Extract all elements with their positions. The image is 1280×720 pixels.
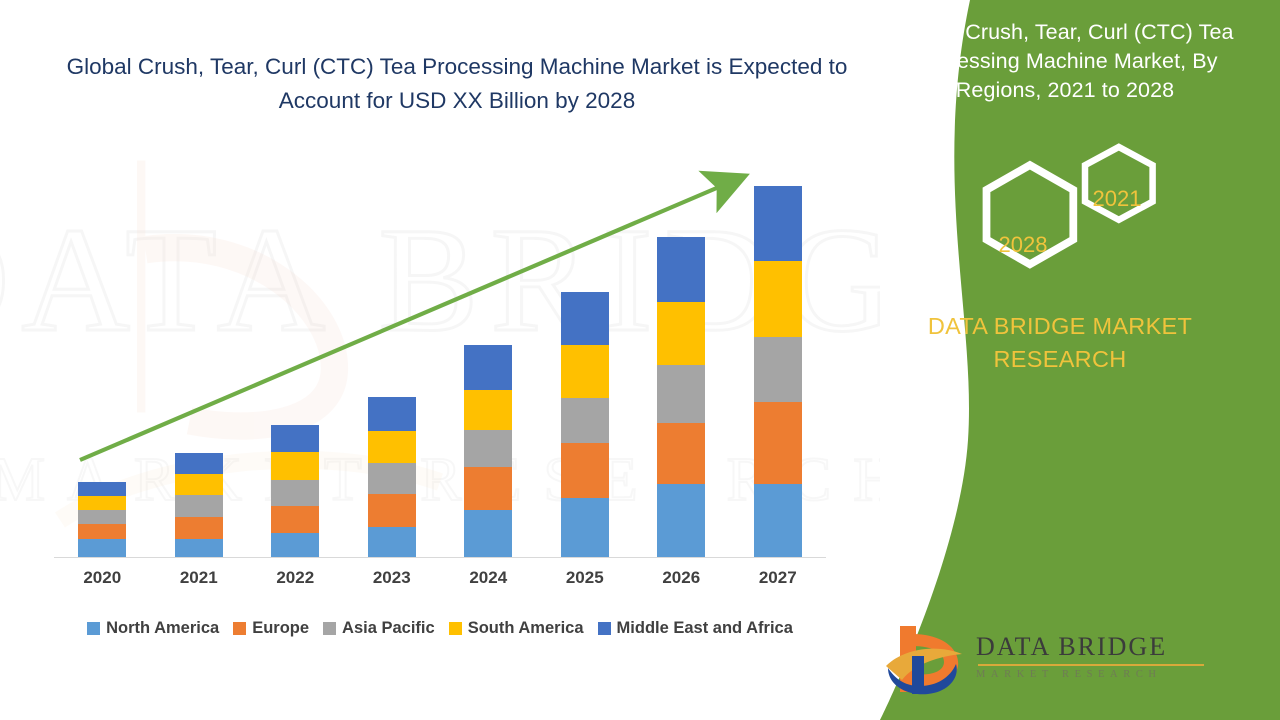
legend-swatch-icon: [233, 622, 246, 635]
bar-segment: [464, 510, 512, 558]
legend-label: South America: [468, 619, 584, 638]
bar-segment: [754, 484, 802, 558]
panel-title: Global Crush, Tear, Curl (CTC) Tea Proce…: [870, 18, 1260, 105]
logo-mark-icon: [882, 622, 968, 698]
x-axis-tick-label: 2025: [537, 568, 633, 588]
hexagon-2028-label: 2028: [978, 232, 1068, 258]
logo-title: DATA BRIDGE: [976, 632, 1226, 662]
bar-segment: [368, 527, 416, 558]
legend-item: South America: [449, 619, 584, 638]
bar-segment: [368, 494, 416, 527]
bar-segment: [78, 539, 126, 558]
legend-item: North America: [87, 619, 219, 638]
legend-swatch-icon: [598, 622, 611, 635]
bar-segment: [657, 484, 705, 558]
x-axis-line: [54, 557, 826, 558]
x-axis-tick-label: 2024: [440, 568, 536, 588]
legend-label: North America: [106, 619, 219, 638]
bar-segment: [175, 539, 223, 558]
legend-item: Asia Pacific: [323, 619, 435, 638]
bar-column: [78, 482, 126, 558]
x-axis-tick-label: 2020: [54, 568, 150, 588]
hexagon-2021-label: 2021: [1072, 186, 1162, 212]
x-axis-labels: 20202021202220232024202520262027: [54, 568, 826, 594]
x-axis-tick-label: 2021: [151, 568, 247, 588]
x-axis-tick-label: 2023: [344, 568, 440, 588]
bar-segment: [78, 524, 126, 539]
bar-segment: [271, 506, 319, 533]
data-bridge-logo: DATA BRIDGE MARKET RESEARCH: [872, 616, 1252, 702]
bar-segment: [78, 510, 126, 524]
legend-swatch-icon: [449, 622, 462, 635]
growth-arrow: [54, 165, 826, 485]
bar-segment: [271, 533, 319, 558]
legend-item: Europe: [233, 619, 309, 638]
bar-segment: [561, 498, 609, 558]
hexagon-group: 2021 2028: [950, 142, 1190, 292]
legend-swatch-icon: [323, 622, 336, 635]
bar-segment: [175, 517, 223, 539]
slide-canvas: DATA BRIDGE MARKET RESEARCH Global Crush…: [0, 0, 1280, 720]
logo-wordmark: DATA BRIDGE MARKET RESEARCH: [976, 632, 1226, 680]
bar-segment: [175, 495, 223, 517]
x-axis-tick-label: 2022: [247, 568, 343, 588]
legend-label: Middle East and Africa: [617, 619, 793, 638]
legend-item: Middle East and Africa: [598, 619, 793, 638]
legend-label: Asia Pacific: [342, 619, 435, 638]
brand-name: DATA BRIDGE MARKET RESEARCH: [860, 310, 1260, 376]
legend-label: Europe: [252, 619, 309, 638]
right-brand-panel: Global Crush, Tear, Curl (CTC) Tea Proce…: [840, 0, 1280, 720]
chart-legend: North AmericaEuropeAsia PacificSouth Ame…: [54, 615, 826, 641]
logo-subtitle: MARKET RESEARCH: [976, 669, 1226, 680]
x-axis-tick-label: 2027: [730, 568, 826, 588]
bar-segment: [78, 496, 126, 510]
x-axis-tick-label: 2026: [633, 568, 729, 588]
logo-divider: [978, 664, 1204, 666]
page-title: Global Crush, Tear, Curl (CTC) Tea Proce…: [62, 50, 852, 118]
legend-swatch-icon: [87, 622, 100, 635]
